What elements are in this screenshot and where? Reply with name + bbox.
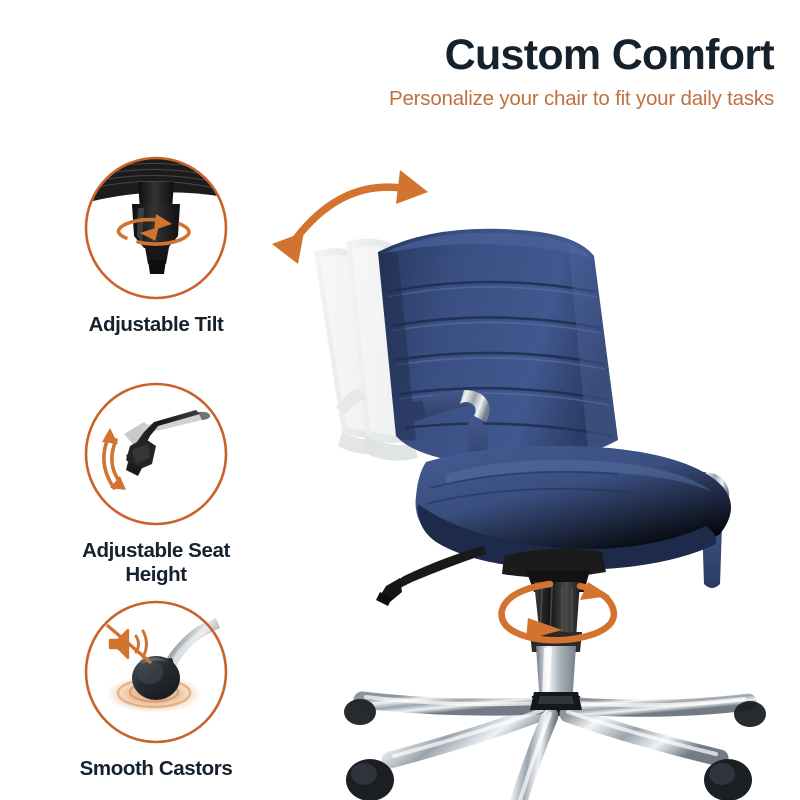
mute-speaker-icon — [108, 626, 150, 662]
gas-cylinder — [530, 582, 582, 706]
infographic-canvas: Custom Comfort Personalize your chair to… — [0, 0, 800, 800]
seat-height-lever-icon — [124, 410, 210, 476]
feature-adjustable-seat-height: Adjustable Seat Height — [58, 378, 254, 587]
caster-right — [704, 759, 752, 800]
feature-label: Smooth Castors — [58, 757, 254, 781]
header: Custom Comfort Personalize your chair to… — [154, 34, 774, 110]
chair-backrest — [378, 229, 618, 466]
page-title: Custom Comfort — [154, 34, 774, 77]
feature-label: Adjustable Seat Height — [58, 539, 254, 587]
caster-left — [346, 759, 394, 800]
seat-height-badge — [80, 378, 232, 530]
height-adjust-lever — [376, 546, 486, 606]
page-subtitle: Personalize your chair to fit your daily… — [154, 89, 774, 110]
feature-adjustable-tilt: Adjustable Tilt — [58, 152, 254, 337]
tilt-mechanism-icon — [74, 148, 240, 274]
feature-label: Adjustable Tilt — [58, 313, 254, 337]
badge-ring — [86, 384, 226, 524]
caster-back-right — [734, 701, 766, 727]
product-image-office-chair: 360° — [250, 140, 790, 790]
chair-base — [362, 692, 748, 800]
castors-badge — [80, 596, 232, 748]
caster-back-left — [344, 699, 376, 725]
tilt-badge — [80, 152, 232, 304]
feature-smooth-castors: Smooth Castors — [58, 596, 254, 781]
